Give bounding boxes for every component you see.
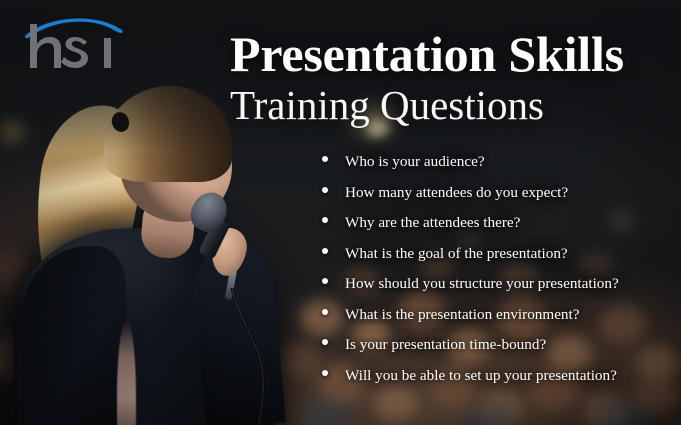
list-item: What is the goal of the presentation? <box>322 239 674 270</box>
bullet-dot-icon <box>322 370 328 376</box>
bullet-dot-icon <box>322 248 328 254</box>
page-subtitle: Training Questions <box>230 83 670 129</box>
questions-list: Who is your audience? How many attendees… <box>322 147 674 391</box>
logo-swoosh-arc <box>25 19 123 39</box>
question-text: Who is your audience? <box>345 147 485 178</box>
bullet-dot-icon <box>322 217 328 223</box>
question-text: Will you be able to set up your presenta… <box>345 361 617 392</box>
question-text: What is the presentation environment? <box>345 300 580 331</box>
page-title: Presentation Skills <box>230 28 670 81</box>
bullet-dot-icon <box>322 339 328 345</box>
question-text: How should you structure your presentati… <box>345 269 619 300</box>
logo-wordmark-shape <box>30 24 111 68</box>
bullet-dot-icon <box>322 278 328 284</box>
title-block: Presentation Skills Training Questions <box>230 28 670 129</box>
question-text: Why are the attendees there? <box>345 208 520 239</box>
list-item: What is the presentation environment? <box>322 300 674 331</box>
bullet-dot-icon <box>322 187 328 193</box>
bullet-dot-icon <box>322 309 328 315</box>
presentation-skills-poster: Presentation Skills Training Questions W… <box>0 0 681 425</box>
list-item: Who is your audience? <box>322 147 674 178</box>
list-item: Is your presentation time-bound? <box>322 330 674 361</box>
list-item: Why are the attendees there? <box>322 208 674 239</box>
list-item: Will you be able to set up your presenta… <box>322 361 674 392</box>
question-text: How many attendees do you expect? <box>345 178 568 209</box>
question-text: Is your presentation time-bound? <box>345 330 546 361</box>
list-item: How should you structure your presentati… <box>322 269 674 300</box>
hsi-logo[interactable] <box>22 14 134 72</box>
list-item: How many attendees do you expect? <box>322 178 674 209</box>
question-text: What is the goal of the presentation? <box>345 239 568 270</box>
bullet-dot-icon <box>322 156 328 162</box>
